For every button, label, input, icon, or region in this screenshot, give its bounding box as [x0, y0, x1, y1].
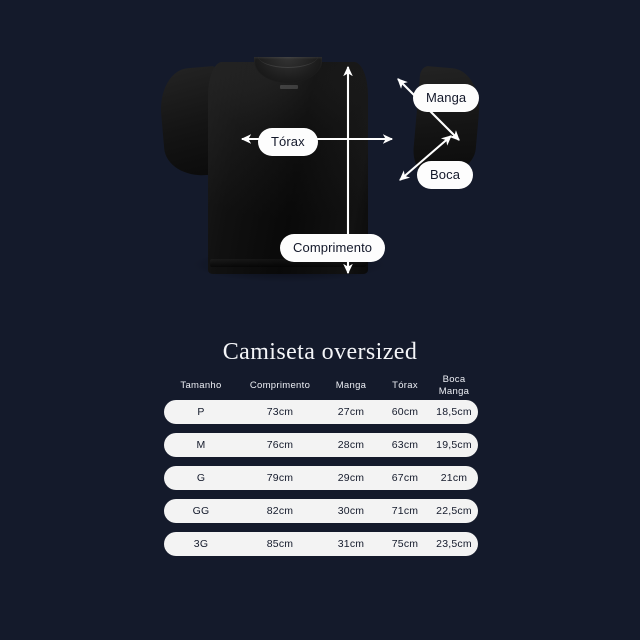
header-boca-manga-line2: Manga: [439, 386, 470, 397]
callout-manga: Manga: [413, 84, 479, 112]
cell-boca-manga: 18,5cm: [430, 406, 478, 418]
cell-tamanho: GG: [164, 505, 238, 517]
cell-torax: 67cm: [380, 472, 430, 484]
cell-tamanho: 3G: [164, 538, 238, 550]
cell-manga: 30cm: [322, 505, 380, 517]
cell-comprimento: 79cm: [238, 472, 322, 484]
cell-manga: 31cm: [322, 538, 380, 550]
cell-torax: 71cm: [380, 505, 430, 517]
cell-torax: 60cm: [380, 406, 430, 418]
table-row[interactable]: P 73cm 27cm 60cm 18,5cm: [164, 400, 478, 424]
header-comprimento: Comprimento: [238, 380, 322, 392]
callout-boca: Boca: [417, 161, 473, 189]
cell-comprimento: 82cm: [238, 505, 322, 517]
table-header-row: Tamanho Comprimento Manga Tórax Boca Man…: [164, 372, 478, 400]
header-boca-manga-line1: Boca: [443, 374, 466, 385]
cell-boca-manga: 19,5cm: [430, 439, 478, 451]
callout-torax: Tórax: [258, 128, 318, 156]
header-torax: Tórax: [380, 380, 430, 392]
cell-comprimento: 76cm: [238, 439, 322, 451]
header-tamanho: Tamanho: [164, 380, 238, 392]
product-hero: Tórax Manga Boca Comprimento: [0, 0, 640, 310]
cell-comprimento: 73cm: [238, 406, 322, 418]
page-title: Camiseta oversized: [0, 339, 640, 366]
cell-boca-manga: 22,5cm: [430, 505, 478, 517]
table-row[interactable]: G 79cm 29cm 67cm 21cm: [164, 466, 478, 490]
cell-tamanho: M: [164, 439, 238, 451]
cell-tamanho: G: [164, 472, 238, 484]
table-row[interactable]: GG 82cm 30cm 71cm 22,5cm: [164, 499, 478, 523]
cell-boca-manga: 23,5cm: [430, 538, 478, 550]
cell-manga: 28cm: [322, 439, 380, 451]
size-chart-table: Tamanho Comprimento Manga Tórax Boca Man…: [164, 372, 478, 556]
cell-tamanho: P: [164, 406, 238, 418]
header-boca-manga: Boca Manga: [430, 374, 478, 397]
cell-torax: 75cm: [380, 538, 430, 550]
cell-torax: 63cm: [380, 439, 430, 451]
callout-comprimento: Comprimento: [280, 234, 385, 262]
header-manga: Manga: [322, 380, 380, 392]
table-row[interactable]: 3G 85cm 31cm 75cm 23,5cm: [164, 532, 478, 556]
cell-manga: 27cm: [322, 406, 380, 418]
cell-boca-manga: 21cm: [430, 472, 478, 484]
cell-manga: 29cm: [322, 472, 380, 484]
cell-comprimento: 85cm: [238, 538, 322, 550]
table-row[interactable]: M 76cm 28cm 63cm 19,5cm: [164, 433, 478, 457]
